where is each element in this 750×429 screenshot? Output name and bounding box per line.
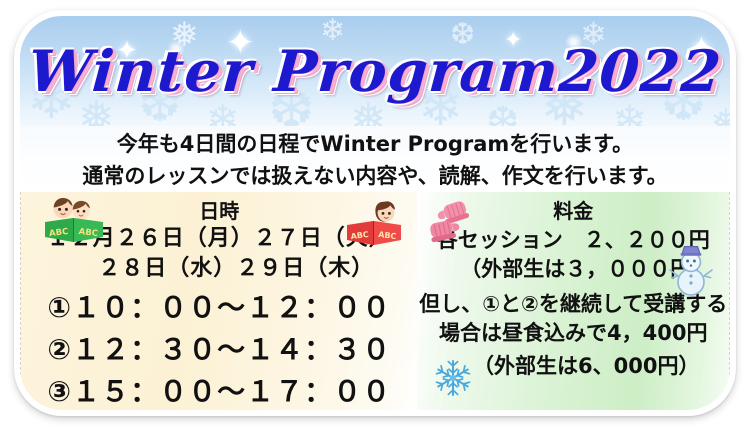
page-title: Winter Program2022 [20, 38, 730, 105]
flyer-inner: ❄ ❅ ❆ ❄ ❅ ❆ ❄ ❅ ❄ ❆ ❆ ❅ ❄ ❄ ❆ ❅ ✦ ✦ ✦ ✦ … [20, 16, 730, 410]
session-2: ②１２：３０～１４：３０ [21, 332, 417, 368]
lead-line-1: 今年も4日間の日程でWinter Programを行います。 [20, 128, 730, 160]
schedule-date-2: ２８日（水）２９日（木） [21, 254, 417, 284]
session-3: ③１５：００～１７：００ [21, 374, 417, 410]
kid-reading-red-book-icon: ABC ABC [345, 198, 403, 248]
kids-reading-green-book-icon: ABC ABC [43, 196, 105, 244]
snowman-icon [669, 242, 713, 298]
info-panels: ABC ABC A [20, 192, 730, 410]
title-banner: ❄ ❅ ❆ ❄ ❅ ❆ ❄ ❅ ❄ ❆ ❆ ❅ ❄ ❄ ❆ ❅ ✦ ✦ ✦ ✦ … [20, 16, 730, 134]
pink-mittens-icon [425, 198, 477, 246]
snowflake-icon [433, 358, 473, 398]
fee-line-4: 場合は昼食込みで4，400円 [417, 319, 729, 348]
fees-panel: 料金 各セッション ２、２００円 （外部生は３，０００円） 但し、①と②を継続し… [417, 192, 730, 410]
schedule-panel: ABC ABC A [20, 192, 417, 410]
flyer-card: ❄ ❅ ❆ ❄ ❅ ❆ ❄ ❅ ❄ ❆ ❆ ❅ ❄ ❄ ❆ ❅ ✦ ✦ ✦ ✦ … [14, 10, 736, 416]
lead-line-2: 通常のレッスンでは扱えない内容や、読解、作文を行います。 [20, 160, 730, 192]
lead-paragraph: 今年も4日間の日程でWinter Programを行います。 通常のレッスンでは… [20, 126, 730, 194]
session-1: ①１０：００～１２：００ [21, 290, 417, 326]
